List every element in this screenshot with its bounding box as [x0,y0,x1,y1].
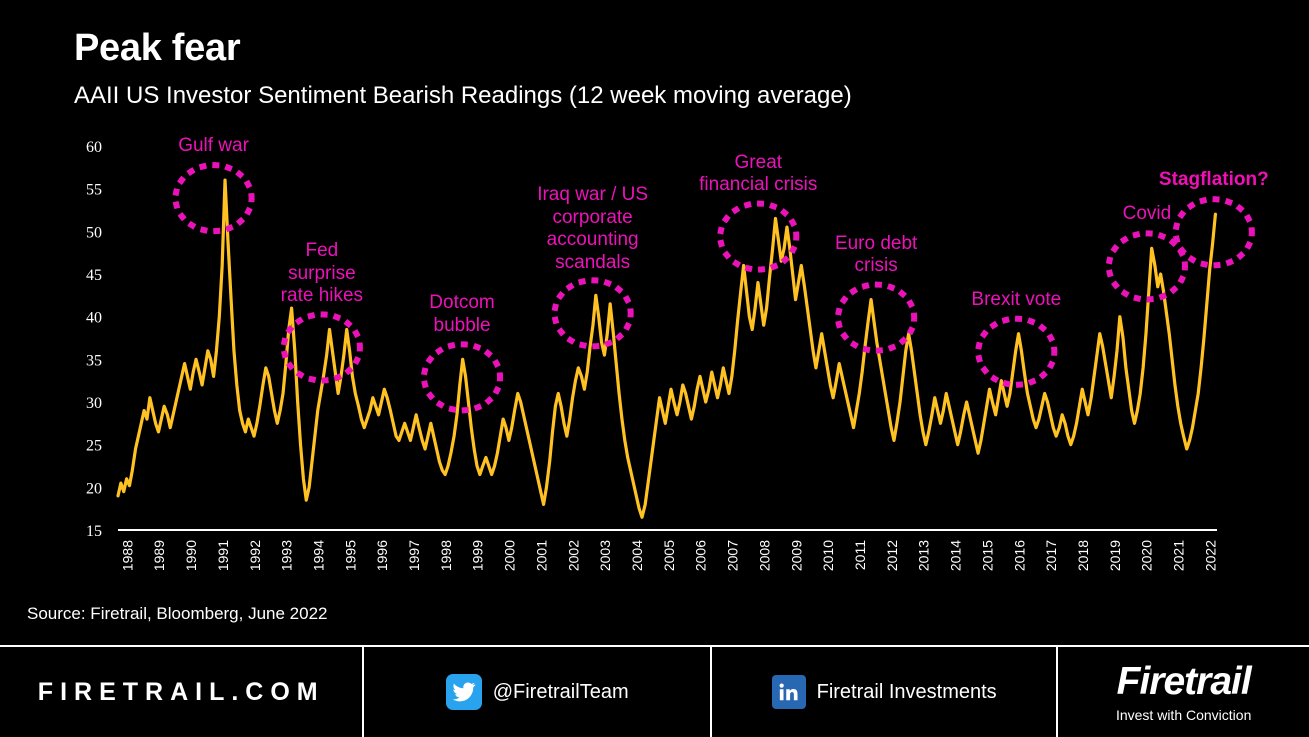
y-axis-tick: 55 [86,182,102,199]
x-axis-tick: 2007 [725,540,741,571]
x-axis-tick: 2022 [1202,540,1218,571]
x-axis-tick: 1992 [247,540,263,571]
linkedin-link[interactable]: Firetrail Investments [772,675,997,709]
x-axis-tick: 1999 [470,540,486,571]
annotation-label: Brexit vote [926,289,1106,311]
x-axis-tick: 2012 [884,540,900,571]
twitter-link[interactable]: @FiretrailTeam [446,674,629,710]
x-axis-tick: 1994 [310,540,326,571]
annotation-label: Iraq war / US corporate accounting scand… [503,184,683,274]
x-axis-tick: 1989 [151,540,167,571]
y-axis-tick: 30 [86,395,102,412]
y-axis-tick: 50 [86,224,102,241]
x-axis-tick: 2010 [820,540,836,571]
x-axis-tick: 2017 [1043,540,1059,571]
annotation-label: Covid [1057,203,1237,225]
footer-bar: FIRETRAIL.COM @FiretrailTeam [0,645,1309,737]
slide-root: Peak fear AAII US Investor Sentiment Bea… [0,0,1309,735]
page-title: Peak fear [74,29,240,67]
annotation-label: Gulf war [124,135,304,157]
footer-logo-cell: Firetrail Invest with Conviction [1056,647,1309,737]
x-axis-tick: 1991 [215,540,231,571]
y-axis-tick: 40 [86,310,102,327]
x-axis-tick: 1993 [279,540,295,571]
firetrail-logo: Firetrail [1117,662,1251,701]
x-axis-tick: 2018 [1075,540,1091,571]
y-axis-tick: 60 [86,139,102,156]
annotation-label: Stagflation? [1124,169,1304,191]
x-axis-tick: 1988 [119,540,135,571]
footer-linkedin-cell[interactable]: Firetrail Investments [710,647,1056,737]
x-axis-tick: 2015 [979,540,995,571]
y-axis-tick: 25 [86,438,102,455]
x-axis-tick: 1995 [342,540,358,571]
annotation-label: Great financial crisis [668,152,848,197]
x-axis-tick: 1990 [183,540,199,571]
footer-brand-cell: FIRETRAIL.COM [0,647,362,737]
x-axis-tick: 2013 [916,540,932,571]
source-note: Source: Firetrail, Bloomberg, June 2022 [27,604,328,624]
y-axis-tick: 20 [86,480,102,497]
x-axis-tick: 2014 [948,540,964,571]
annotation-circle [1109,233,1185,299]
y-axis-tick: 15 [86,523,102,540]
linkedin-in-icon [772,675,806,709]
x-axis-tick: 2000 [502,540,518,571]
x-axis-tick: 2006 [693,540,709,571]
logo-tagline: Invest with Conviction [1116,707,1251,723]
annotation-label: Euro debt crisis [786,233,966,278]
footer-twitter-cell[interactable]: @FiretrailTeam [362,647,709,737]
x-axis-tick: 2021 [1171,540,1187,571]
annotation-label: Dotcom bubble [372,292,552,337]
y-axis-tick: 35 [86,352,102,369]
x-axis-tick: 2003 [597,540,613,571]
brand-wordmark: FIRETRAIL.COM [38,678,325,707]
x-axis-tick: 2008 [756,540,772,571]
x-axis-tick: 2004 [629,540,645,571]
x-axis-tick: 2002 [565,540,581,571]
twitter-bird-icon [446,674,482,710]
x-axis-tick: 2005 [661,540,677,571]
twitter-handle: @FiretrailTeam [493,681,629,704]
annotation-circle [176,165,252,231]
page-subtitle: AAII US Investor Sentiment Bearish Readi… [74,83,852,109]
x-axis-tick: 2009 [788,540,804,571]
x-axis-tick: 1996 [374,540,390,571]
x-axis-tick: 2001 [533,540,549,571]
linkedin-name: Firetrail Investments [817,681,997,704]
chart-container: 1520253035404550556019881989199019911992… [0,130,1309,590]
x-axis-tick: 2019 [1107,540,1123,571]
y-axis-tick: 45 [86,267,102,284]
x-axis-tick: 2020 [1139,540,1155,571]
x-axis-tick: 2016 [1011,540,1027,571]
x-axis-tick: 1997 [406,540,422,571]
x-axis-tick: 2011 [852,540,868,570]
x-axis-tick: 1998 [438,540,454,571]
